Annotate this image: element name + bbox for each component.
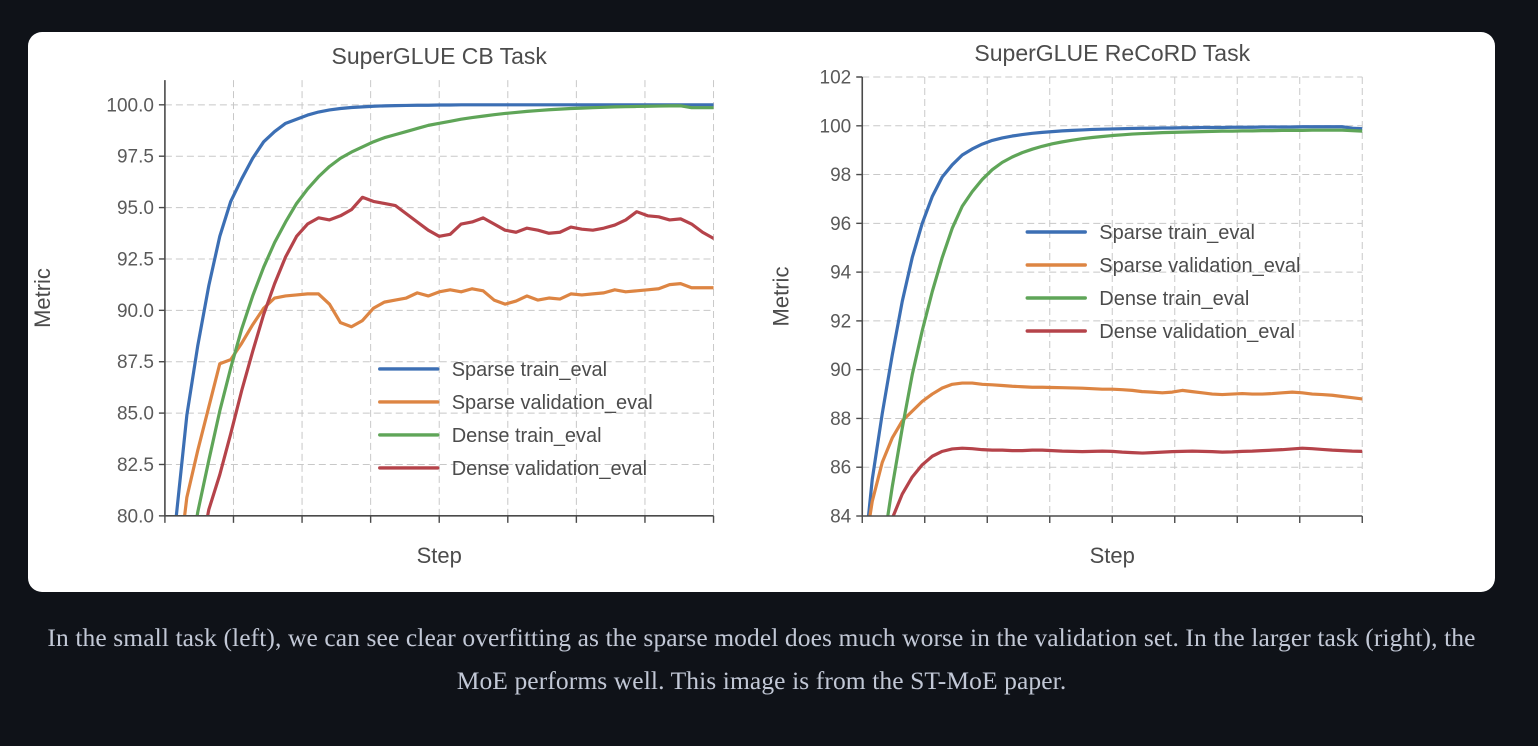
chart-superglue-record: 8486889092949698100102SuperGLUE ReCoRD T… bbox=[762, 32, 1496, 592]
y-tick-label: 87.5 bbox=[117, 352, 154, 373]
y-tick-label: 100 bbox=[819, 116, 851, 137]
chart-superglue-cb: 80.082.585.087.590.092.595.097.5100.0Sup… bbox=[28, 32, 762, 592]
y-tick-label: 84 bbox=[830, 507, 852, 528]
y-axis-label: Metric bbox=[768, 267, 793, 327]
chart-svg-superglue-record[interactable]: 8486889092949698100102SuperGLUE ReCoRD T… bbox=[762, 32, 1496, 592]
legend-label: Sparse train_eval bbox=[1099, 222, 1255, 244]
figure-caption: In the small task (left), we can see cle… bbox=[28, 616, 1495, 702]
y-tick-label: 94 bbox=[830, 263, 852, 284]
y-tick-label: 80.0 bbox=[117, 506, 154, 527]
legend-label: Dense validation_eval bbox=[452, 458, 647, 480]
y-tick-label: 90 bbox=[830, 360, 851, 381]
y-tick-label: 92 bbox=[830, 311, 851, 332]
y-tick-label: 100.0 bbox=[106, 95, 153, 116]
legend-label: Dense train_eval bbox=[452, 425, 602, 447]
legend-label: Sparse validation_eval bbox=[452, 392, 653, 414]
y-tick-label: 96 bbox=[830, 214, 851, 235]
x-axis-label: Step bbox=[1089, 543, 1134, 568]
chart-title: SuperGLUE ReCoRD Task bbox=[974, 40, 1250, 66]
chart-svg-superglue-cb[interactable]: 80.082.585.087.590.092.595.097.5100.0Sup… bbox=[28, 32, 762, 592]
chart-legend: Sparse train_evalSparse validation_evalD… bbox=[1027, 222, 1300, 343]
charts-row: 80.082.585.087.590.092.595.097.5100.0Sup… bbox=[28, 32, 1495, 592]
y-tick-label: 92.5 bbox=[117, 249, 154, 270]
y-tick-label: 95.0 bbox=[117, 198, 154, 219]
y-tick-label: 86 bbox=[830, 458, 851, 479]
page-root: 80.082.585.087.590.092.595.097.5100.0Sup… bbox=[0, 0, 1538, 746]
y-tick-label: 82.5 bbox=[117, 455, 154, 476]
y-tick-label: 97.5 bbox=[117, 147, 154, 168]
y-tick-label: 102 bbox=[819, 68, 851, 89]
y-tick-label: 85.0 bbox=[117, 404, 154, 425]
y-tick-label: 88 bbox=[830, 409, 851, 430]
y-axis-label: Metric bbox=[30, 268, 55, 328]
y-tick-label: 98 bbox=[830, 165, 851, 186]
legend-label: Sparse train_eval bbox=[452, 359, 607, 381]
legend-label: Dense train_eval bbox=[1099, 288, 1249, 310]
chart-title: SuperGLUE CB Task bbox=[332, 43, 548, 69]
y-tick-label: 90.0 bbox=[117, 301, 154, 322]
figure-card: 80.082.585.087.590.092.595.097.5100.0Sup… bbox=[28, 32, 1495, 592]
caption-line-1: In the small task (left), we can see cle… bbox=[47, 623, 1244, 652]
legend-label: Sparse validation_eval bbox=[1099, 255, 1300, 277]
chart-legend: Sparse train_evalSparse validation_evalD… bbox=[380, 359, 653, 480]
legend-label: Dense validation_eval bbox=[1099, 321, 1295, 343]
x-axis-label: Step bbox=[417, 543, 462, 568]
